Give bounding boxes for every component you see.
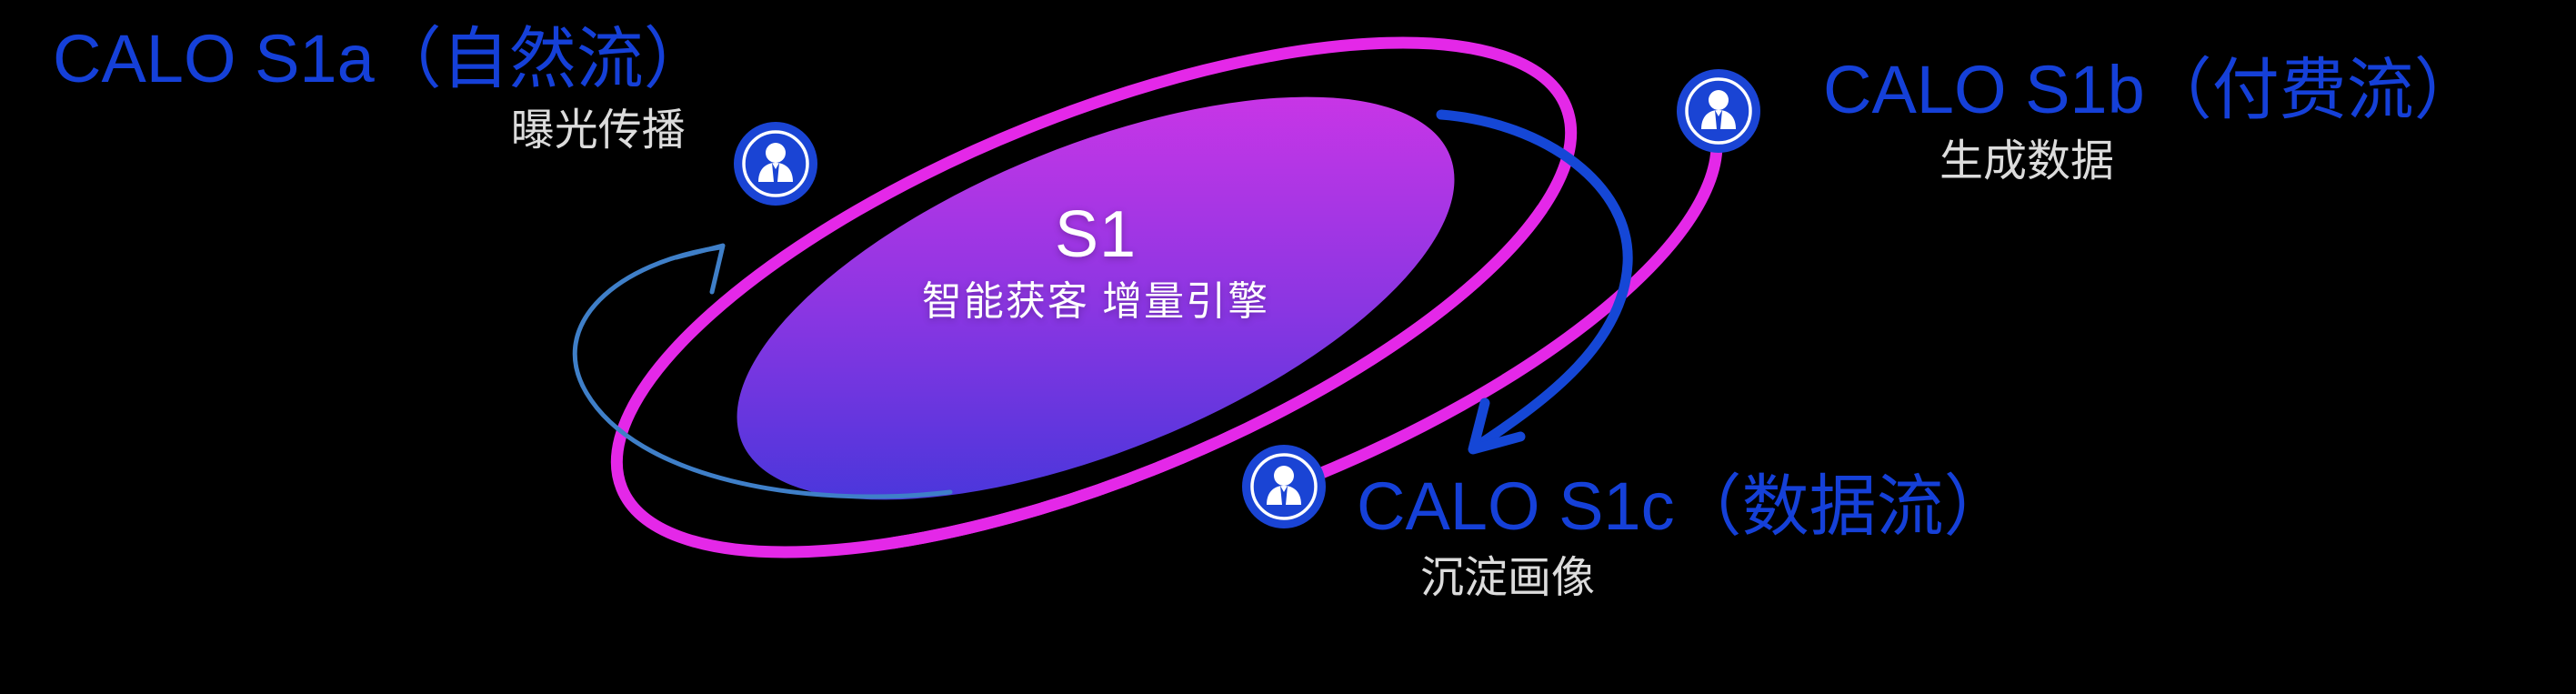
diagram-canvas: CALO S1a（自然流） 曝光传播 CALO S1b（付费流） 生成数据 CA…	[0, 0, 2576, 694]
node-s1c[interactable]	[1242, 445, 1326, 528]
node-s1a[interactable]	[734, 122, 817, 206]
calo-s1-orbit-diagram	[0, 0, 2576, 694]
node-s1b[interactable]	[1677, 69, 1760, 153]
